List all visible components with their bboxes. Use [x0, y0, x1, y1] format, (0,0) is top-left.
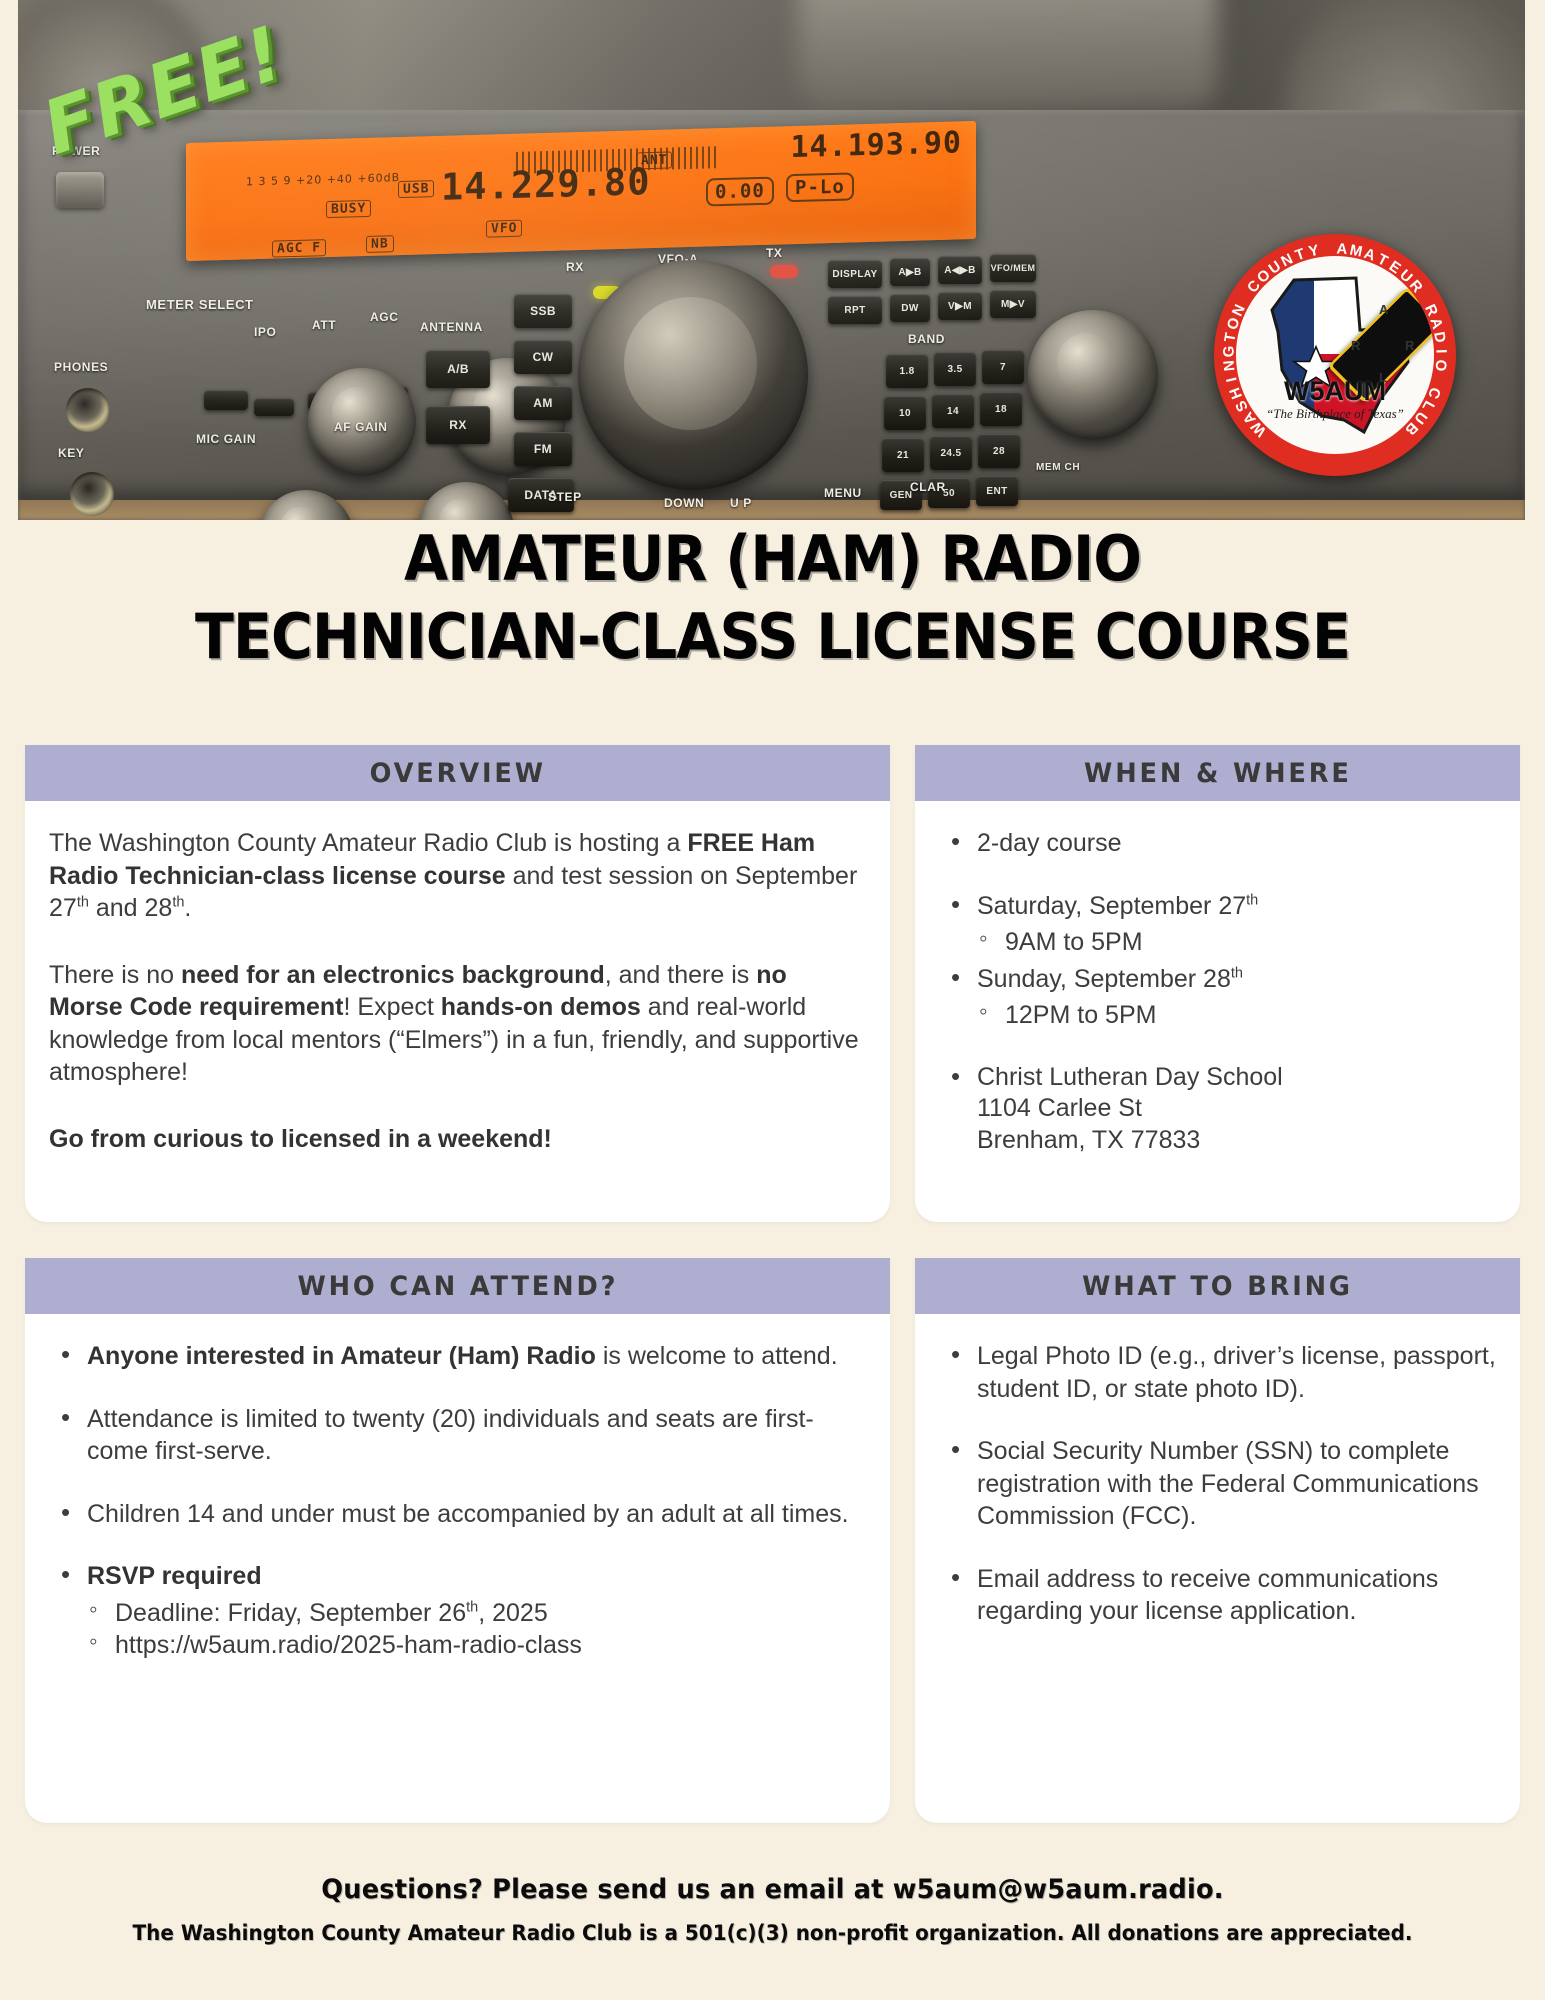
clarifier-knob[interactable]	[1028, 310, 1158, 440]
band-24-5-button[interactable]: 24.5	[930, 436, 972, 470]
title-line-1: AMATEUR (HAM) RADIO	[62, 528, 1483, 590]
radio-lcd-display: 1 3 5 9 +20 +40 +60dB BUSY USB VFO NB AN…	[186, 121, 976, 261]
m-to-v-button[interactable]: M▶V	[990, 290, 1036, 318]
panel-when-where: WHEN & WHERE 2-day course Saturday, Sept…	[915, 745, 1520, 1222]
list-item-course-length: 2-day course	[939, 827, 1496, 860]
v-to-m-button[interactable]: V▶M	[938, 292, 982, 320]
band-14-button[interactable]: 14	[932, 394, 974, 428]
rsvp-url[interactable]: https://w5aum.radio/2025-ham-radio-class	[87, 1629, 866, 1662]
att-button[interactable]	[308, 392, 352, 410]
footer-contact-line: Questions? Please send us an email at w5…	[39, 1874, 1507, 1905]
list-item-day2: Sunday, September 28th	[939, 963, 1496, 996]
down-label: DOWN	[664, 496, 704, 510]
rsvp-deadline-suffix: , 2025	[478, 1599, 548, 1627]
page-title: AMATEUR (HAM) RADIO TECHNICIAN-CLASS LIC…	[0, 528, 1545, 668]
panel-what-to-bring: WHAT TO BRING Legal Photo ID (e.g., driv…	[915, 1258, 1520, 1823]
venue-city-state-zip: Brenham, TX 77833	[977, 1125, 1496, 1157]
band-10-button[interactable]: 10	[884, 396, 926, 430]
venue-street: 1104 Carlee St	[977, 1093, 1496, 1125]
course-length-text: 2-day course	[977, 829, 1122, 857]
rf-pwr-knob[interactable]	[258, 490, 354, 520]
list-item-children: Children 14 and under must be accompanie…	[49, 1498, 866, 1531]
panel-overview-header: OVERVIEW	[25, 745, 890, 801]
list-item-rsvp: RSVP required	[49, 1560, 866, 1593]
ov-p1-part4: .	[184, 894, 191, 922]
mem-ch-label: MEM CH	[1036, 462, 1080, 473]
day2-sublist: 12PM to 5PM	[939, 999, 1496, 1032]
rsvp-bold: RSVP required	[87, 1562, 262, 1590]
vfo-a-label: VFO-A	[658, 252, 698, 266]
diamond-letter-a: A	[1379, 302, 1388, 317]
club-callsign: W5AUM	[1236, 376, 1434, 407]
key-label: KEY	[58, 446, 84, 460]
club-motto: “The Birthplace of Texas”	[1236, 406, 1434, 422]
up-label: U P	[730, 496, 752, 510]
rf-gain-knob[interactable]	[418, 482, 514, 520]
lcd-ant-tag: ANT	[636, 151, 672, 169]
list-item-ssn: Social Security Number (SSN) to complete…	[939, 1435, 1496, 1533]
day1-time: 9AM to 5PM	[977, 926, 1496, 959]
agc-label: AGC	[370, 310, 398, 324]
tx-indicator-label: TX	[766, 246, 783, 260]
footer-nonprofit-line: The Washington County Amateur Radio Club…	[39, 1921, 1507, 1945]
mic-gain-label: MIC GAIN	[196, 432, 256, 446]
af-gain-label: AF GAIN	[334, 420, 388, 434]
ov-p1-part3: and 28	[89, 894, 172, 922]
af-gain-knob[interactable]	[448, 358, 566, 476]
day1-sup: th	[1246, 892, 1258, 908]
mode-ssb-button[interactable]: SSB	[514, 294, 572, 328]
ov-p1-sup1: th	[77, 895, 89, 911]
ov-p1-sup2: th	[172, 895, 184, 911]
club-logo-badge: WASHINGTON COUNTY AMATEUR RADIO CLUB	[1214, 234, 1456, 476]
list-item-venue: Christ Lutheran Day School 1104 Carlee S…	[939, 1062, 1496, 1157]
power-switch[interactable]	[56, 172, 104, 208]
rsvp-sublist: Deadline: Friday, September 26th, 2025 h…	[49, 1597, 866, 1662]
panel-overview-body: The Washington County Amateur Radio Club…	[25, 801, 890, 1175]
overview-paragraph-3: Go from curious to licensed in a weekend…	[49, 1123, 866, 1156]
lcd-offset-value: 0.00	[706, 177, 774, 207]
rpt-button[interactable]: RPT	[828, 296, 882, 324]
list-item-email: Email address to receive communications …	[939, 1563, 1496, 1628]
anyone-bold: Anyone interested in Amateur (Ham) Radio	[87, 1342, 596, 1370]
band-7-button[interactable]: 7	[982, 350, 1024, 384]
mode-am-button[interactable]: AM	[514, 386, 572, 420]
list-item-photo-id: Legal Photo ID (e.g., driver’s license, …	[939, 1340, 1496, 1405]
band-ent-button[interactable]: ENT	[976, 476, 1018, 506]
panel-overview: OVERVIEW The Washington County Amateur R…	[25, 745, 890, 1222]
hero-radio-photo: 1 3 5 9 +20 +40 +60dB BUSY USB VFO NB AN…	[18, 0, 1525, 520]
band-50-button[interactable]: 50	[928, 478, 970, 508]
lcd-bargraph-icon	[516, 146, 716, 174]
rx-led	[593, 286, 621, 299]
who-can-attend-list: Anyone interested in Amateur (Ham) Radio…	[49, 1340, 866, 1662]
mode-cw-button[interactable]: CW	[514, 340, 572, 374]
lcd-usb-tag: USB	[398, 180, 434, 198]
band-group-label: BAND	[908, 332, 945, 346]
rx-indicator-label: RX	[566, 260, 584, 274]
panel-overview-heading: OVERVIEW	[369, 758, 545, 789]
band-28-button[interactable]: 28	[978, 434, 1020, 468]
ipo-button[interactable]	[254, 398, 294, 416]
meter-select-button[interactable]	[204, 390, 248, 410]
venue-name: Christ Lutheran Day School	[977, 1062, 1496, 1094]
day1-sublist: 9AM to 5PM	[939, 926, 1496, 959]
title-line-2: TECHNICIAN-CLASS LICENSE COURSE	[62, 606, 1483, 668]
antenna-rx-button[interactable]: RX	[426, 406, 490, 444]
overview-paragraph-1: The Washington County Amateur Radio Club…	[49, 827, 866, 925]
panel-who-can-attend: WHO CAN ATTEND? Anyone interested in Ama…	[25, 1258, 890, 1823]
rsvp-deadline: Deadline: Friday, September 26th, 2025	[87, 1597, 866, 1630]
panel-bring-header: WHAT TO BRING	[915, 1258, 1520, 1314]
mode-data-button[interactable]: DATA	[508, 478, 574, 512]
lcd-power-mode: P-Lo	[786, 172, 854, 202]
ov-p2-part3: ! Expect	[344, 993, 441, 1021]
mic-gain-knob[interactable]	[308, 368, 416, 476]
antenna-ab-button[interactable]: A/B	[426, 350, 490, 388]
display-button[interactable]: DISPLAY	[828, 260, 882, 288]
step-label: STEP	[548, 490, 582, 504]
tx-led	[770, 265, 798, 278]
anyone-rest: is welcome to attend.	[596, 1342, 838, 1370]
mode-fm-button[interactable]: FM	[514, 432, 572, 466]
lcd-main-frequency: 14.229.80	[441, 160, 650, 209]
band-18-button[interactable]: 18	[980, 392, 1022, 426]
ov-p2-bold3: hands-on demos	[441, 993, 641, 1021]
day2-time: 12PM to 5PM	[977, 999, 1496, 1032]
panel-when-where-heading: WHEN & WHERE	[1084, 758, 1352, 789]
overview-paragraph-2: There is no need for an electronics back…	[49, 959, 866, 1089]
a-to-b-button[interactable]: A▶B	[890, 258, 930, 286]
key-jack[interactable]	[70, 472, 114, 516]
panel-who-body: Anyone interested in Amateur (Ham) Radio…	[25, 1314, 890, 1682]
vfo-main-tuning-knob[interactable]	[578, 260, 808, 490]
panel-bring-body: Legal Photo ID (e.g., driver’s license, …	[915, 1314, 1520, 1648]
lcd-vfo-tag: VFO	[486, 220, 522, 238]
clar-label: CLAR	[910, 480, 946, 494]
rsvp-deadline-prefix: Deadline: Friday, September 26	[115, 1599, 466, 1627]
ov-p2-part2: , and there is	[605, 961, 756, 989]
day1-label: Saturday, September 27	[977, 892, 1246, 920]
lcd-busy-tag: BUSY	[326, 200, 371, 218]
att-label: ATT	[312, 318, 336, 332]
day2-sup: th	[1231, 965, 1243, 981]
panel-when-where-body: 2-day course Saturday, September 27th 9A…	[915, 801, 1520, 1176]
band-gen-button[interactable]: GEN	[880, 480, 922, 510]
phones-label: PHONES	[54, 360, 108, 374]
lcd-sub-frequency: 14.193.90	[790, 125, 962, 165]
lcd-agc-tag: AGC F	[272, 239, 326, 258]
dw-button[interactable]: DW	[890, 294, 930, 322]
ov-p1-part1: The Washington County Amateur Radio Club…	[49, 829, 687, 857]
panel-who-heading: WHO CAN ATTEND?	[297, 1271, 618, 1302]
panel-who-header: WHO CAN ATTEND?	[25, 1258, 890, 1314]
panel-when-where-header: WHEN & WHERE	[915, 745, 1520, 801]
day2-label: Sunday, September 28	[977, 965, 1231, 993]
when-where-list: 2-day course Saturday, September 27th 9A…	[939, 827, 1496, 1156]
rsvp-deadline-sup: th	[466, 1599, 478, 1615]
vfo-mem-button[interactable]: VFO/MEM	[990, 254, 1036, 282]
band-1-8-button[interactable]: 1.8	[886, 354, 928, 388]
ov-p2-part1: There is no	[49, 961, 181, 989]
list-item-anyone: Anyone interested in Amateur (Ham) Radio…	[49, 1340, 866, 1373]
band-21-button[interactable]: 21	[882, 438, 924, 472]
antenna-label: ANTENNA	[420, 320, 483, 334]
list-item-day1: Saturday, September 27th	[939, 890, 1496, 923]
phones-jack[interactable]	[66, 388, 110, 432]
agc-button[interactable]	[364, 386, 408, 404]
panel-bring-heading: WHAT TO BRING	[1082, 1271, 1353, 1302]
meter-select-label: METER SELECT	[146, 298, 254, 312]
what-to-bring-list: Legal Photo ID (e.g., driver’s license, …	[939, 1340, 1496, 1628]
lcd-nb-tag: NB	[366, 235, 394, 253]
footer: Questions? Please send us an email at w5…	[0, 1874, 1545, 1945]
band-3-5-button[interactable]: 3.5	[934, 352, 976, 386]
diamond-letter-r1: R	[1351, 338, 1360, 353]
ov-p2-bold1: need for an electronics background	[181, 961, 605, 989]
menu-label: MENU	[824, 486, 862, 500]
ipo-label: IPO	[254, 325, 276, 339]
background-blur-top	[798, 0, 1218, 110]
list-item-attendance-limit: Attendance is limited to twenty (20) ind…	[49, 1403, 866, 1468]
diamond-letter-r2: R	[1405, 338, 1414, 353]
a-swap-b-button[interactable]: A◀▶B	[938, 256, 982, 284]
lcd-smeter-scale: 1 3 5 9 +20 +40 +60dB	[246, 171, 400, 188]
club-logo-inner: A R R L W5AUM “The Birthplace of Texas”	[1236, 256, 1434, 454]
ov-p3-bold: Go from curious to licensed in a weekend…	[49, 1125, 552, 1153]
